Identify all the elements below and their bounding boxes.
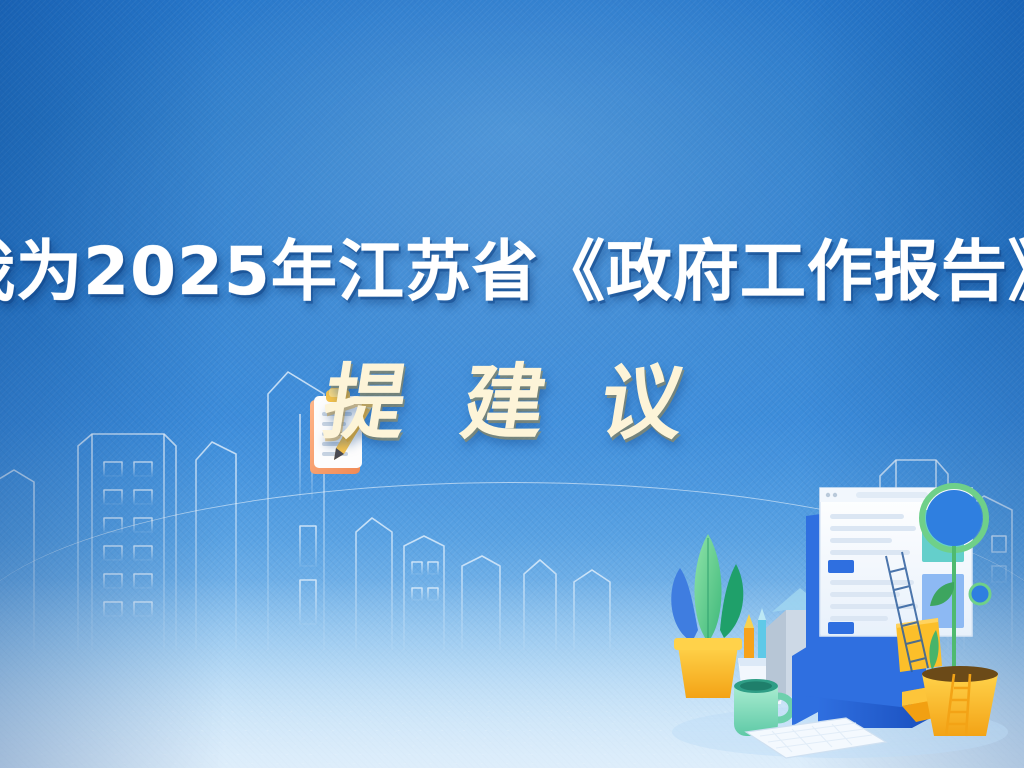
pencil-icon [334, 398, 374, 460]
top-glow [0, 0, 1024, 440]
page-subtitle: 提 建 议 [316, 336, 708, 455]
poster-banner: 我为2025年江苏省《政府工作报告》 提 建 议 [0, 0, 1024, 768]
desk-illustration [650, 460, 1024, 768]
page-title: 我为2025年江苏省《政府工作报告》 [0, 218, 1024, 314]
clipboard-pencil-icon [300, 386, 378, 482]
potted-plant-icon [671, 534, 743, 698]
